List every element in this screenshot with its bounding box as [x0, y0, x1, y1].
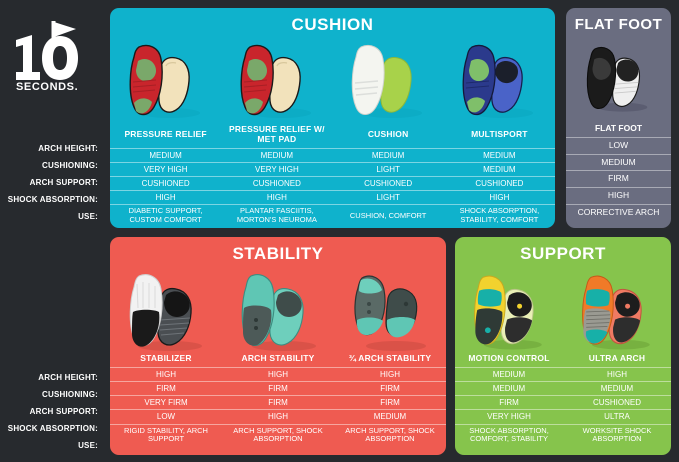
cell-value: CUSHION, COMFORT	[333, 205, 444, 228]
pressure-relief-met-pad-insole-art	[225, 39, 329, 121]
cushion-insole-art	[336, 39, 440, 121]
column-header-multisport: MULTISPORT	[444, 123, 555, 148]
spec-list-flat-foot: FLAT FOOT LOW MEDIUM FIRM HIGH CORRECTIV…	[566, 121, 671, 221]
cell-value-arch-height: LOW	[566, 137, 671, 154]
product-image-pressure-relief-met-pad	[221, 35, 332, 123]
column-header-motion-control: MOTION CONTROL	[455, 352, 563, 367]
product-images-cushion	[110, 35, 555, 123]
row-labels-top: ARCH HEIGHT: CUSHIONING: ARCH SUPPORT: S…	[0, 140, 104, 225]
cell-value: FIRM	[110, 381, 222, 395]
cell-value-use: CORRECTIVE ARCH	[566, 204, 671, 221]
table-header-row: STABILIZER ARCH STABILITY ¾ ARCH STABILI…	[110, 352, 446, 367]
panel-title-cushion: CUSHION	[110, 8, 555, 35]
product-image-multisport	[444, 35, 555, 123]
table-row-shock-absorption: LOW HIGH MEDIUM	[110, 410, 446, 424]
ultra-arch-insole-art	[567, 268, 667, 354]
cell-value: CUSHIONED	[563, 396, 671, 410]
cell-value: WORKSITE SHOCK ABSORPTION	[563, 424, 671, 447]
column-header-stabilizer: STABILIZER	[110, 352, 222, 367]
panel-cushion[interactable]: CUSHION	[110, 8, 555, 228]
table-row-use: DIABETIC SUPPORT, CUSTOM COMFORT PLANTAR…	[110, 205, 555, 228]
product-images-stability	[110, 264, 446, 352]
spec-table-stability: STABILIZER ARCH STABILITY ¾ ARCH STABILI…	[110, 352, 446, 447]
cell-value-arch-support: FIRM	[566, 170, 671, 187]
product-images-flat-foot	[566, 33, 671, 121]
row-label-shock-absorption: SHOCK ABSORPTION:	[0, 191, 104, 208]
cell-value: MEDIUM	[110, 148, 221, 162]
table-row-cushioning: FIRM FIRM FIRM	[110, 381, 446, 395]
pressure-relief-insole-art	[114, 39, 218, 121]
row-label-arch-height: ARCH HEIGHT:	[0, 140, 104, 157]
cell-value: MEDIUM	[455, 381, 563, 395]
cell-value: PLANTAR FASCIITIS, MORTON'S NEUROMA	[221, 205, 332, 228]
table-row-cushioning: MEDIUM MEDIUM	[455, 381, 671, 395]
cell-value: VERY HIGH	[221, 162, 332, 176]
cell-value: FIRM	[222, 381, 334, 395]
cell-value: FIRM	[334, 381, 446, 395]
cell-value-shock-absorption: HIGH	[566, 187, 671, 204]
cell-value: MEDIUM	[563, 381, 671, 395]
table-row-use: SHOCK ABSORPTION, COMFORT, STABILITY WOR…	[455, 424, 671, 447]
column-header-cushion: CUSHION	[333, 123, 444, 148]
row-label-arch-support: ARCH SUPPORT:	[0, 174, 104, 191]
cell-value: SHOCK ABSORPTION, STABILITY, COMFORT	[444, 205, 555, 228]
cell-value: HIGH	[222, 410, 334, 424]
cell-value: CUSHIONED	[333, 176, 444, 190]
cell-value: HIGH	[110, 191, 221, 205]
cell-value: HIGH	[563, 367, 671, 381]
cell-value: VERY FIRM	[110, 396, 222, 410]
cell-value: LIGHT	[333, 162, 444, 176]
cell-value: RIGID STABILITY, ARCH SUPPORT	[110, 424, 222, 447]
row-label-arch-height: ARCH HEIGHT:	[0, 369, 104, 386]
row-label-cushioning: CUSHIONING:	[0, 157, 104, 174]
arch-stability-insole-art	[226, 268, 330, 354]
brand-logo: SECONDS.	[10, 14, 102, 92]
cell-value: VERY HIGH	[455, 410, 563, 424]
cell-value: MEDIUM	[455, 367, 563, 381]
cell-value: ARCH SUPPORT, SHOCK ABSORPTION	[334, 424, 446, 447]
panel-title-flat-foot: FLAT FOOT	[566, 8, 671, 33]
column-header-flat-foot: FLAT FOOT	[566, 121, 671, 137]
row-label-shock-absorption: SHOCK ABSORPTION:	[0, 420, 104, 437]
panel-title-stability: STABILITY	[110, 237, 446, 264]
cell-value: FIRM	[222, 396, 334, 410]
row-labels-bottom: ARCH HEIGHT: CUSHIONING: ARCH SUPPORT: S…	[0, 369, 104, 454]
cell-value: SHOCK ABSORPTION, COMFORT, STABILITY	[455, 424, 563, 447]
product-image-pressure-relief	[110, 35, 221, 123]
panel-title-support: SUPPORT	[455, 237, 671, 264]
brand-wordmark: SECONDS.	[16, 81, 78, 92]
table-row-arch-support: CUSHIONED CUSHIONED CUSHIONED CUSHIONED	[110, 176, 555, 190]
table-row-use: RIGID STABILITY, ARCH SUPPORT ARCH SUPPO…	[110, 424, 446, 447]
cell-value-cushioning: MEDIUM	[566, 154, 671, 171]
cell-value: VERY HIGH	[110, 162, 221, 176]
cell-value: DIABETIC SUPPORT, CUSTOM COMFORT	[110, 205, 221, 228]
panel-flat-foot[interactable]: FLAT FOOT FLAT FOOT LOW MEDIUM FIRM HIGH…	[566, 8, 671, 228]
cell-value: MEDIUM	[444, 162, 555, 176]
cell-value: MEDIUM	[444, 148, 555, 162]
table-row-cushioning: VERY HIGH VERY HIGH LIGHT MEDIUM	[110, 162, 555, 176]
row-label-arch-support: ARCH SUPPORT:	[0, 403, 104, 420]
product-image-flat-foot	[566, 33, 671, 121]
table-row-arch-support: FIRM CUSHIONED	[455, 396, 671, 410]
cell-value: CUSHIONED	[444, 176, 555, 190]
product-image-ultra-arch	[563, 264, 671, 352]
spec-table-cushion: PRESSURE RELIEF PRESSURE RELIEF W/ MET P…	[110, 123, 555, 228]
column-header-three-quarter-arch-stability: ¾ ARCH STABILITY	[334, 352, 446, 367]
cell-value: CUSHIONED	[221, 176, 332, 190]
three-quarter-arch-stability-insole-art	[338, 268, 442, 354]
cell-value: HIGH	[110, 367, 222, 381]
cell-value: MEDIUM	[221, 148, 332, 162]
column-header-ultra-arch: ULTRA ARCH	[563, 352, 671, 367]
cell-value: CUSHIONED	[110, 176, 221, 190]
panel-stability[interactable]: STABILITY	[110, 237, 446, 455]
cell-value: LIGHT	[333, 191, 444, 205]
cell-value: FIRM	[455, 396, 563, 410]
table-row-shock-absorption: HIGH HIGH LIGHT HIGH	[110, 191, 555, 205]
cell-value: HIGH	[221, 191, 332, 205]
ten-seconds-logo-icon: SECONDS.	[10, 14, 102, 92]
row-label-cushioning: CUSHIONING:	[0, 386, 104, 403]
column-header-pressure-relief-met-pad: PRESSURE RELIEF W/ MET PAD	[221, 123, 332, 148]
product-image-stabilizer	[110, 264, 222, 352]
multisport-insole-art	[447, 39, 551, 121]
column-header-arch-stability: ARCH STABILITY	[222, 352, 334, 367]
stabilizer-insole-art	[114, 268, 218, 354]
row-label-use: USE:	[0, 437, 104, 454]
infographic-root: SECONDS. ARCH HEIGHT: CUSHIONING: ARCH S…	[0, 0, 679, 462]
cell-value: HIGH	[334, 367, 446, 381]
product-images-support	[455, 264, 671, 352]
cell-value: ARCH SUPPORT, SHOCK ABSORPTION	[222, 424, 334, 447]
row-label-use: USE:	[0, 208, 104, 225]
column-header-pressure-relief: PRESSURE RELIEF	[110, 123, 221, 148]
panel-support[interactable]: SUPPORT	[455, 237, 671, 455]
table-row-arch-height: MEDIUM HIGH	[455, 367, 671, 381]
cell-value: HIGH	[222, 367, 334, 381]
cell-value: HIGH	[444, 191, 555, 205]
table-row-arch-height: HIGH HIGH HIGH	[110, 367, 446, 381]
motion-control-insole-art	[459, 268, 559, 354]
cell-value: ULTRA	[563, 410, 671, 424]
table-row-arch-height: MEDIUM MEDIUM MEDIUM MEDIUM	[110, 148, 555, 162]
table-row-arch-support: VERY FIRM FIRM FIRM	[110, 396, 446, 410]
product-image-cushion	[333, 35, 444, 123]
spec-table-support: MOTION CONTROL ULTRA ARCH MEDIUM HIGH ME…	[455, 352, 671, 447]
table-header-row: PRESSURE RELIEF PRESSURE RELIEF W/ MET P…	[110, 123, 555, 148]
cell-value: MEDIUM	[334, 410, 446, 424]
cell-value: MEDIUM	[333, 148, 444, 162]
product-image-arch-stability	[222, 264, 334, 352]
flat-foot-insole-art	[573, 37, 665, 119]
cell-value: FIRM	[334, 396, 446, 410]
product-image-motion-control	[455, 264, 563, 352]
table-row-shock-absorption: VERY HIGH ULTRA	[455, 410, 671, 424]
product-image-three-quarter-arch-stability	[334, 264, 446, 352]
cell-value: LOW	[110, 410, 222, 424]
table-header-row: MOTION CONTROL ULTRA ARCH	[455, 352, 671, 367]
